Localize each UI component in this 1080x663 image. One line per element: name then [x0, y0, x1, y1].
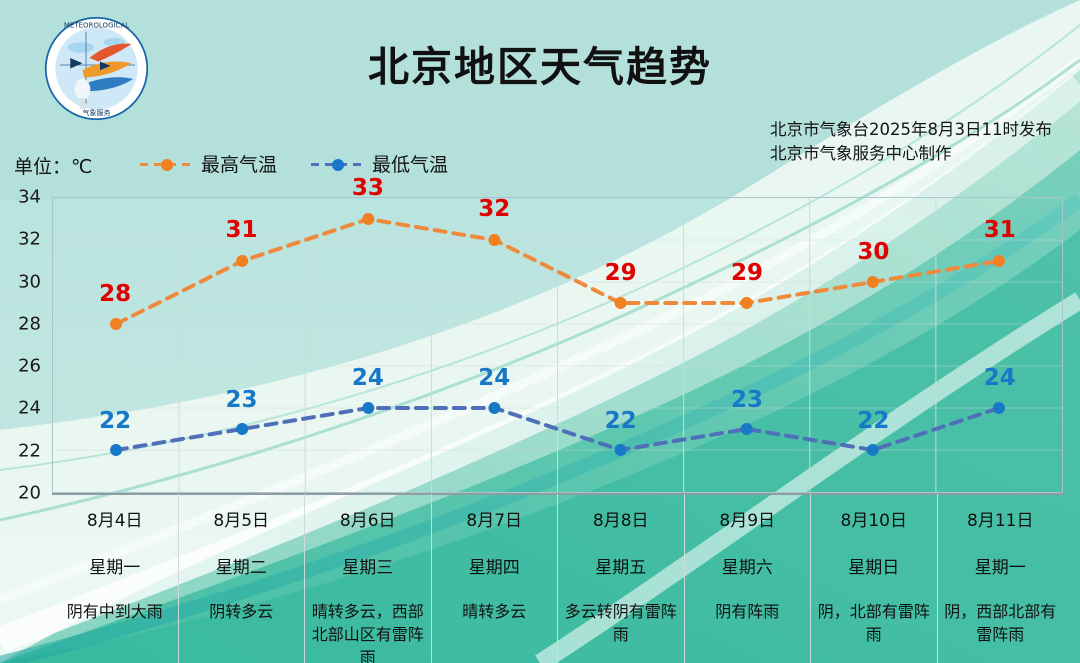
data-point — [867, 276, 879, 288]
data-point — [110, 444, 122, 456]
day-condition: 阴有阵雨 — [685, 600, 811, 623]
day-column: 8月4日星期一阴有中到大雨 — [52, 494, 178, 663]
chart-gridlines — [53, 198, 1062, 492]
data-point — [488, 234, 500, 246]
data-point — [110, 318, 122, 330]
data-point — [236, 423, 248, 435]
data-point — [741, 423, 753, 435]
svg-text:METEOROLOGICAL: METEOROLOGICAL — [64, 21, 129, 29]
day-date: 8月11日 — [938, 506, 1064, 531]
legend-marker-low-icon — [311, 157, 365, 171]
day-condition: 多云转阴有雷阵雨 — [558, 600, 684, 646]
legend-item-low: 最低气温 — [311, 150, 448, 177]
day-date: 8月8日 — [558, 506, 684, 531]
day-condition: 阴转多云 — [179, 600, 305, 623]
data-point — [741, 297, 753, 309]
legend: 最高气温 最低气温 — [140, 150, 448, 177]
day-weekday: 星期五 — [558, 553, 684, 578]
data-point — [615, 444, 627, 456]
day-weekday: 星期一 — [52, 553, 178, 578]
day-weekday: 星期一 — [938, 553, 1064, 578]
day-date: 8月7日 — [432, 506, 558, 531]
day-column: 8月11日星期一阴，西部北部有雷阵雨 — [937, 494, 1064, 663]
y-axis-tick: 20 — [1, 483, 41, 504]
data-point — [362, 402, 374, 414]
day-weekday: 星期日 — [811, 553, 937, 578]
day-condition: 阴，西部北部有雷阵雨 — [938, 600, 1064, 646]
data-point — [867, 444, 879, 456]
data-point — [615, 297, 627, 309]
publish-info: 北京市气象台2025年8月3日11时发布 北京市气象服务中心制作 — [770, 118, 1052, 166]
day-weekday: 星期六 — [685, 553, 811, 578]
legend-marker-high-icon — [140, 157, 194, 171]
data-point — [362, 213, 374, 225]
day-column: 8月10日星期日阴，北部有雷阵雨 — [810, 494, 937, 663]
unit-label: 单位：℃ — [14, 152, 92, 179]
x-axis-day-columns: 8月4日星期一阴有中到大雨8月5日星期二阴转多云8月6日星期三晴转多云，西部北部… — [52, 494, 1063, 663]
day-column: 8月6日星期三晴转多云，西部北部山区有雷阵雨 — [304, 494, 431, 663]
chart-plot-area — [52, 197, 1063, 493]
day-weekday: 星期四 — [432, 553, 558, 578]
day-weekday: 星期三 — [305, 553, 431, 578]
data-point — [488, 402, 500, 414]
y-axis-tick: 34 — [1, 187, 41, 208]
y-axis-tick: 30 — [1, 271, 41, 292]
day-column: 8月7日星期四晴转多云 — [431, 494, 558, 663]
page-title: 北京地区天气趋势 — [0, 33, 1080, 93]
y-axis-tick: 24 — [1, 398, 41, 419]
day-condition: 阴，北部有雷阵雨 — [811, 600, 937, 646]
legend-item-high: 最高气温 — [140, 150, 277, 177]
data-point — [993, 402, 1005, 414]
legend-label-high: 最高气温 — [201, 150, 277, 177]
svg-text:气象服务: 气象服务 — [83, 108, 111, 117]
day-condition: 晴转多云 — [432, 600, 558, 623]
data-point — [236, 255, 248, 267]
day-date: 8月4日 — [52, 506, 178, 531]
day-date: 8月5日 — [179, 506, 305, 531]
day-condition: 晴转多云，西部北部山区有雷阵雨 — [305, 600, 431, 663]
weather-trend-infographic: METEOROLOGICAL 气象服务 北京地区天气趋势 北京市气象台2025年… — [0, 0, 1080, 663]
day-weekday: 星期二 — [179, 553, 305, 578]
y-axis-tick: 26 — [1, 356, 41, 377]
data-point — [993, 255, 1005, 267]
y-axis-tick: 28 — [1, 313, 41, 334]
day-date: 8月10日 — [811, 506, 937, 531]
y-axis-tick: 32 — [1, 229, 41, 250]
day-date: 8月9日 — [685, 506, 811, 531]
day-condition: 阴有中到大雨 — [52, 600, 178, 623]
legend-label-low: 最低气温 — [372, 150, 448, 177]
day-column: 8月8日星期五多云转阴有雷阵雨 — [557, 494, 684, 663]
day-column: 8月5日星期二阴转多云 — [178, 494, 305, 663]
day-column: 8月9日星期六阴有阵雨 — [684, 494, 811, 663]
chart-svg — [53, 198, 1062, 492]
y-axis-tick: 22 — [1, 440, 41, 461]
publish-info-line2: 北京市气象服务中心制作 — [770, 142, 1052, 166]
publish-info-line1: 北京市气象台2025年8月3日11时发布 — [770, 118, 1052, 142]
day-date: 8月6日 — [305, 506, 431, 531]
